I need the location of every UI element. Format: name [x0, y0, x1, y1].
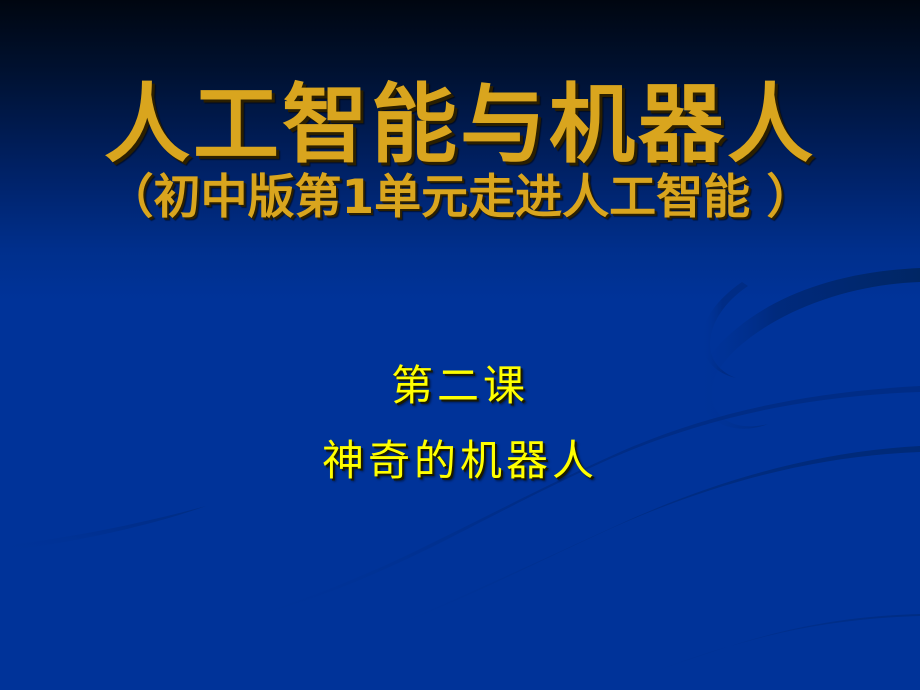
page-title: 人工智能与机器人: [0, 82, 920, 168]
slide-title-block: 人工智能与机器人 （初中版第1单元走进人工智能 ）: [0, 82, 920, 221]
page-subtitle: （初中版第1单元走进人工智能 ）: [0, 174, 920, 221]
slide-body-block: 第二课 神奇的机器人: [0, 352, 920, 488]
swoosh-bottom-curve: [632, 614, 920, 680]
lesson-title-text: 神奇的机器人: [0, 427, 920, 488]
swoosh-left-wisp: [0, 506, 206, 552]
presentation-slide: 人工智能与机器人 （初中版第1单元走进人工智能 ） 第二课 神奇的机器人: [0, 0, 920, 690]
lesson-number-text: 第二课: [0, 352, 920, 413]
